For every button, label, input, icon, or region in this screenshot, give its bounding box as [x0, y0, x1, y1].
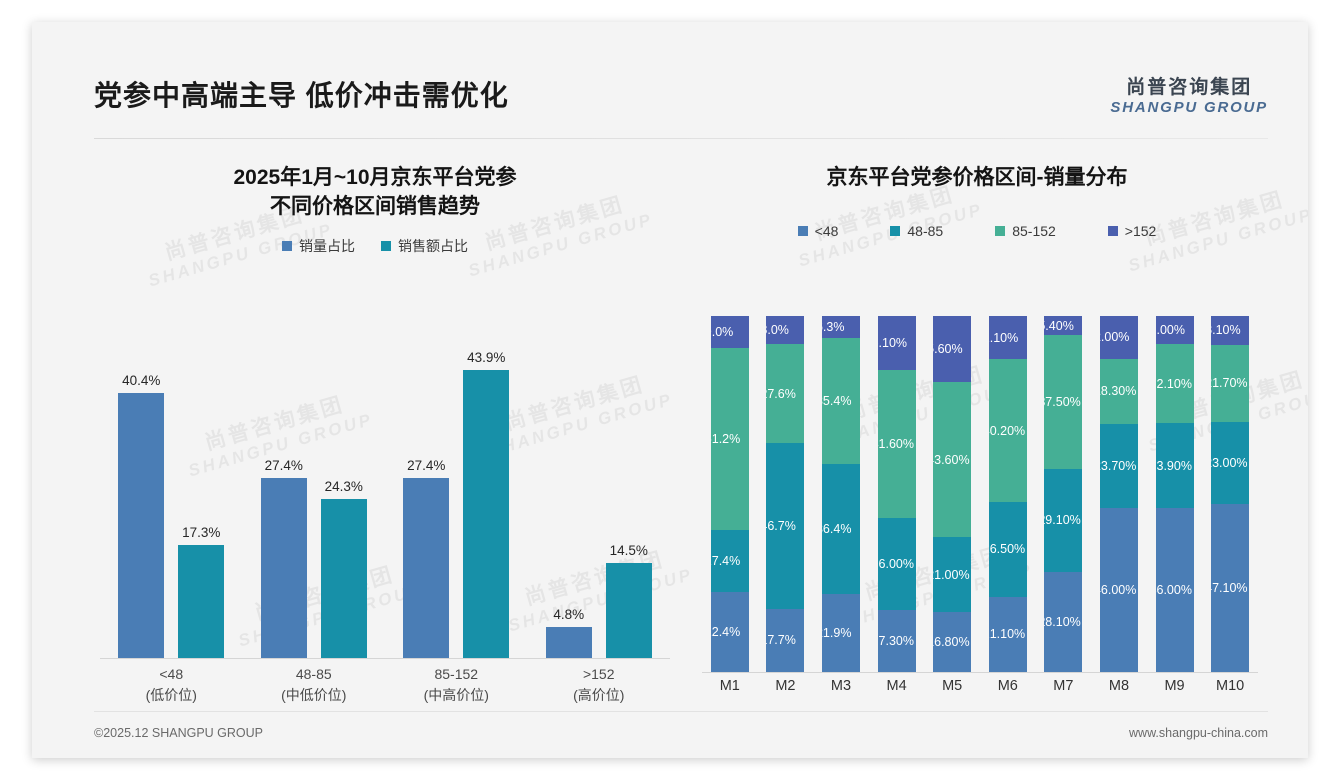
stack-value-label: 47.10%: [1211, 581, 1247, 595]
stacked-bar-M7[interactable]: 5.40%37.50%29.10%28.10%: [1036, 316, 1092, 672]
stack-value-label: 46.00%: [1156, 583, 1192, 597]
stacked-bar-rect: 8.00%22.10%23.90%46.00%: [1156, 316, 1194, 672]
stack-segment-<48-M8: 46.00%: [1100, 508, 1138, 672]
bar-rect: [606, 563, 652, 658]
stacked-bar-rect: 8.0%27.6%46.7%17.7%: [766, 316, 804, 672]
bar-value-label: 4.8%: [553, 607, 584, 622]
right-chart-legend-item-1[interactable]: 48-85: [890, 223, 943, 239]
stack-value-label: 16.80%: [933, 635, 969, 649]
slide-header: 党参中高端主导 低价冲击需优化 尚普咨询集团 SHANGPU GROUP: [32, 22, 1308, 116]
stack-value-label: 22.10%: [1156, 377, 1192, 391]
stack-segment-48-85-M10: 23.00%: [1211, 422, 1249, 504]
page-title: 党参中高端主导 低价冲击需优化: [94, 74, 509, 114]
x-tick-M9: M9: [1147, 678, 1203, 694]
stack-segment->152-M9: 8.00%: [1156, 316, 1194, 344]
stack-segment-85-152-M2: 27.6%: [766, 344, 804, 442]
stack-value-label: 5.10%: [878, 336, 907, 350]
stack-segment-48-85-M2: 46.7%: [766, 443, 804, 609]
right-chart-title: 京东平台党参价格区间-销量分布: [684, 148, 1270, 193]
header-divider: [94, 138, 1268, 139]
x-tick-sublabel: (高价位): [528, 685, 671, 706]
stack-value-label: 46.7%: [766, 519, 795, 533]
logo-chinese-text: 尚普咨询集团: [1110, 78, 1268, 97]
stack-value-label: 26.50%: [989, 542, 1025, 556]
x-tick->152: >152(高价位): [528, 664, 671, 706]
bar-销量占比-85-152[interactable]: 27.4%: [403, 330, 449, 658]
x-tick-sublabel: (低价位): [100, 685, 243, 706]
stack-value-label: 36.4%: [822, 522, 851, 536]
stack-value-label: 5.60%: [933, 342, 962, 356]
left-chart-title-line2: 不同价格区间销售趋势: [70, 193, 680, 222]
stacked-bar-rect: 8.10%21.70%23.00%47.10%: [1211, 316, 1249, 672]
stack-segment-85-152-M3: 35.4%: [822, 338, 860, 464]
stack-value-label: 41.60%: [878, 437, 914, 451]
left-chart-title: 2025年1月~10月京东平台党参 不同价格区间销售趋势: [70, 148, 680, 222]
stack-segment-85-152-M8: 18.30%: [1100, 359, 1138, 424]
stacked-bar-M3[interactable]: 6.3%35.4%36.4%21.9%: [813, 316, 869, 672]
bar-销量占比-48-85[interactable]: 27.4%: [261, 330, 307, 658]
legend-swatch-icon: [282, 241, 292, 251]
x-tick-M4: M4: [869, 678, 925, 694]
bar-value-label: 27.4%: [407, 458, 445, 473]
stack-value-label: 8.10%: [1211, 323, 1240, 337]
stack-segment-85-152-M9: 22.10%: [1156, 344, 1194, 423]
stack-segment-<48-M2: 17.7%: [766, 609, 804, 672]
left-chart-title-line1: 2025年1月~10月京东平台党参: [70, 164, 680, 193]
stack-value-label: 26.00%: [878, 557, 914, 571]
bar-rect: [321, 499, 367, 658]
legend-swatch-icon: [890, 226, 900, 236]
legend-label: 85-152: [1012, 223, 1056, 239]
stack-value-label: 6.3%: [822, 320, 845, 334]
stack-segment-85-152-M4: 41.60%: [878, 370, 916, 518]
stack-segment-85-152-M7: 37.50%: [1044, 335, 1082, 468]
stacked-bar-M1[interactable]: 9.0%51.2%17.4%22.4%: [702, 316, 758, 672]
stacked-bar-M4[interactable]: 5.10%41.60%26.00%17.30%: [869, 316, 925, 672]
stack-value-label: 2.00%: [1100, 330, 1129, 344]
stacked-bar-M6[interactable]: 2.10%40.20%26.50%21.10%: [980, 316, 1036, 672]
stack-segment-<48-M9: 46.00%: [1156, 508, 1194, 672]
stack-segment-85-152-M6: 40.20%: [989, 359, 1027, 502]
stack-segment-85-152-M1: 51.2%: [711, 348, 749, 530]
bar-rect: [261, 478, 307, 658]
stack-value-label: 51.2%: [711, 432, 740, 446]
right-chart-axis: [702, 672, 1258, 673]
stack-segment->152-M5: 5.60%: [933, 316, 971, 382]
stack-value-label: 17.4%: [711, 554, 740, 568]
right-chart-legend: <4848-8585-152>152: [684, 223, 1270, 239]
stack-value-label: 5.40%: [1044, 319, 1073, 333]
stack-value-label: 17.30%: [878, 634, 914, 648]
stack-segment->152-M1: 9.0%: [711, 316, 749, 348]
bar-rect: [463, 370, 509, 658]
stack-segment-<48-M5: 16.80%: [933, 612, 971, 672]
x-tick-M7: M7: [1036, 678, 1092, 694]
legend-label: 48-85: [907, 223, 943, 239]
stack-segment-48-85-M7: 29.10%: [1044, 469, 1082, 573]
stack-value-label: 35.4%: [822, 394, 851, 408]
bar-销量占比->152[interactable]: 4.8%: [546, 330, 592, 658]
bar-销售额占比-85-152[interactable]: 43.9%: [463, 330, 509, 658]
legend-label: >152: [1125, 223, 1157, 239]
left-chart-legend: 销量占比销售额占比: [70, 236, 680, 256]
x-tick-M8: M8: [1091, 678, 1147, 694]
stacked-bar-rect: 5.40%37.50%29.10%28.10%: [1044, 316, 1082, 672]
brand-logo: 尚普咨询集团 SHANGPU GROUP: [1110, 78, 1268, 115]
stacked-bar-M8[interactable]: 2.00%18.30%23.70%46.00%: [1091, 316, 1147, 672]
left-chart-x-tick-labels: <48(低价位)48-85(中低价位)85-152(中高价位)>152(高价位): [100, 664, 670, 706]
stack-value-label: 27.6%: [766, 387, 795, 401]
slide-canvas: 尚普咨询集团SHANGPU GROUP 尚普咨询集团SHANGPU GROUP …: [32, 22, 1308, 758]
stack-value-label: 2.10%: [989, 331, 1018, 345]
stack-segment->152-M2: 8.0%: [766, 316, 804, 344]
stack-value-label: 21.00%: [933, 568, 969, 582]
x-tick-sublabel: (中高价位): [385, 685, 528, 706]
grouped-bar-chart: 40.4%17.3%27.4%24.3%27.4%43.9%4.8%14.5%: [100, 330, 670, 658]
stacked-bar-rect: 2.00%18.30%23.70%46.00%: [1100, 316, 1138, 672]
bar-销售额占比->152[interactable]: 14.5%: [606, 330, 652, 658]
bar-group->152: 4.8%14.5%: [528, 330, 671, 658]
stack-segment-<48-M3: 21.9%: [822, 594, 860, 672]
right-chart-legend-item-0[interactable]: <48: [798, 223, 839, 239]
stack-value-label: 37.50%: [1044, 395, 1080, 409]
stack-segment->152-M4: 5.10%: [878, 316, 916, 370]
stack-segment->152-M3: 6.3%: [822, 316, 860, 338]
bar-group-48-85: 27.4%24.3%: [243, 330, 386, 658]
stacked-bar-rect: 6.3%35.4%36.4%21.9%: [822, 316, 860, 672]
x-tick-sublabel: (中低价位): [243, 685, 386, 706]
stack-segment-85-152-M5: 43.60%: [933, 382, 971, 537]
stack-segment-48-85-M5: 21.00%: [933, 537, 971, 612]
legend-label: 销售额占比: [398, 236, 468, 256]
stack-value-label: 21.10%: [989, 627, 1025, 641]
bar-value-label: 43.9%: [467, 350, 505, 365]
right-chart-x-tick-labels: M1M2M3M4M5M6M7M8M9M10: [702, 678, 1258, 694]
stack-segment->152-M10: 8.10%: [1211, 316, 1249, 345]
x-tick-48-85: 48-85(中低价位): [243, 664, 386, 706]
stack-value-label: 18.30%: [1100, 384, 1136, 398]
stack-value-label: 21.9%: [822, 626, 851, 640]
legend-swatch-icon: [381, 241, 391, 251]
stack-value-label: 23.00%: [1211, 456, 1247, 470]
stack-value-label: 9.0%: [711, 325, 734, 339]
x-tick-85-152: 85-152(中高价位): [385, 664, 528, 706]
stack-segment->152-M6: 2.10%: [989, 316, 1027, 359]
x-tick-<48: <48(低价位): [100, 664, 243, 706]
stack-value-label: 8.00%: [1156, 323, 1185, 337]
bar-rect: [178, 545, 224, 658]
bar-value-label: 27.4%: [265, 458, 303, 473]
stack-segment-<48-M1: 22.4%: [711, 592, 749, 672]
bar-value-label: 24.3%: [325, 479, 363, 494]
stack-value-label: 29.10%: [1044, 513, 1080, 527]
stacked-bar-M9[interactable]: 8.00%22.10%23.90%46.00%: [1147, 316, 1203, 672]
stack-segment-<48-M4: 17.30%: [878, 610, 916, 672]
stack-segment-48-85-M6: 26.50%: [989, 502, 1027, 596]
x-tick-M1: M1: [702, 678, 758, 694]
stacked-bar-chart: 9.0%51.2%17.4%22.4%8.0%27.6%46.7%17.7%6.…: [702, 316, 1258, 672]
stacked-bar-rect: 5.60%43.60%21.00%16.80%: [933, 316, 971, 672]
stack-value-label: 23.70%: [1100, 459, 1136, 473]
bar-group-<48: 40.4%17.3%: [100, 330, 243, 658]
stack-value-label: 21.70%: [1211, 376, 1247, 390]
left-chart-legend-item-0[interactable]: 销量占比: [282, 236, 355, 256]
stacked-bar-M2[interactable]: 8.0%27.6%46.7%17.7%: [758, 316, 814, 672]
chart-panel-left: 2025年1月~10月京东平台党参 不同价格区间销售趋势 销量占比销售额占比 4…: [70, 148, 680, 708]
stack-segment-48-85-M9: 23.90%: [1156, 423, 1194, 508]
stacked-bar-M5[interactable]: 5.60%43.60%21.00%16.80%: [924, 316, 980, 672]
bar-rect: [403, 478, 449, 658]
stack-value-label: 8.0%: [766, 323, 789, 337]
logo-english-text: SHANGPU GROUP: [1110, 100, 1268, 115]
bar-rect: [546, 627, 592, 658]
stack-segment-<48-M6: 21.10%: [989, 597, 1027, 672]
x-tick-range: 48-85: [243, 664, 386, 685]
bar-销售额占比-<48[interactable]: 17.3%: [178, 330, 224, 658]
stack-segment-48-85-M3: 36.4%: [822, 464, 860, 594]
stack-segment-48-85-M1: 17.4%: [711, 530, 749, 592]
bar-value-label: 40.4%: [122, 373, 160, 388]
stacked-bar-rect: 9.0%51.2%17.4%22.4%: [711, 316, 749, 672]
left-chart-legend-item-1[interactable]: 销售额占比: [381, 236, 468, 256]
stack-segment-48-85-M8: 23.70%: [1100, 424, 1138, 508]
stacked-bar-M10[interactable]: 8.10%21.70%23.00%47.10%: [1202, 316, 1258, 672]
x-tick-range: 85-152: [385, 664, 528, 685]
legend-swatch-icon: [798, 226, 808, 236]
stack-segment-<48-M7: 28.10%: [1044, 572, 1082, 672]
chart-panel-right: 京东平台党参价格区间-销量分布 <4848-8585-152>152 9.0%5…: [684, 148, 1270, 708]
x-tick-M6: M6: [980, 678, 1036, 694]
legend-swatch-icon: [1108, 226, 1118, 236]
bar-value-label: 14.5%: [610, 543, 648, 558]
stack-segment-85-152-M10: 21.70%: [1211, 345, 1249, 422]
stacked-bar-rect: 5.10%41.60%26.00%17.30%: [878, 316, 916, 672]
footer-copyright: ©2025.12 SHANGPU GROUP: [94, 726, 263, 740]
bar-group-85-152: 27.4%43.9%: [385, 330, 528, 658]
x-tick-M5: M5: [924, 678, 980, 694]
bar-销量占比-<48[interactable]: 40.4%: [118, 330, 164, 658]
x-tick-M3: M3: [813, 678, 869, 694]
stack-segment->152-M8: 2.00%: [1100, 316, 1138, 359]
stack-value-label: 23.90%: [1156, 459, 1192, 473]
stack-value-label: 17.7%: [766, 633, 795, 647]
stack-value-label: 28.10%: [1044, 615, 1080, 629]
footer-website: www.shangpu-china.com: [1129, 726, 1268, 740]
stack-segment-48-85-M4: 26.00%: [878, 518, 916, 611]
stack-value-label: 22.4%: [711, 625, 740, 639]
right-chart-legend-item-3[interactable]: >152: [1108, 223, 1157, 239]
stack-value-label: 46.00%: [1100, 583, 1136, 597]
legend-label: <48: [815, 223, 839, 239]
x-tick-range: >152: [528, 664, 671, 685]
footer-divider: [94, 711, 1268, 712]
x-tick-M10: M10: [1202, 678, 1258, 694]
right-chart-legend-item-2[interactable]: 85-152: [995, 223, 1056, 239]
bar-销售额占比-48-85[interactable]: 24.3%: [321, 330, 367, 658]
stack-value-label: 40.20%: [989, 424, 1025, 438]
legend-swatch-icon: [995, 226, 1005, 236]
left-chart-axis: [100, 658, 670, 659]
x-tick-range: <48: [100, 664, 243, 685]
stack-segment-<48-M10: 47.10%: [1211, 504, 1249, 672]
stack-segment->152-M7: 5.40%: [1044, 316, 1082, 335]
x-tick-M2: M2: [758, 678, 814, 694]
bar-rect: [118, 393, 164, 658]
stack-value-label: 43.60%: [933, 453, 969, 467]
bar-value-label: 17.3%: [182, 525, 220, 540]
legend-label: 销量占比: [299, 236, 355, 256]
stacked-bar-rect: 2.10%40.20%26.50%21.10%: [989, 316, 1027, 672]
